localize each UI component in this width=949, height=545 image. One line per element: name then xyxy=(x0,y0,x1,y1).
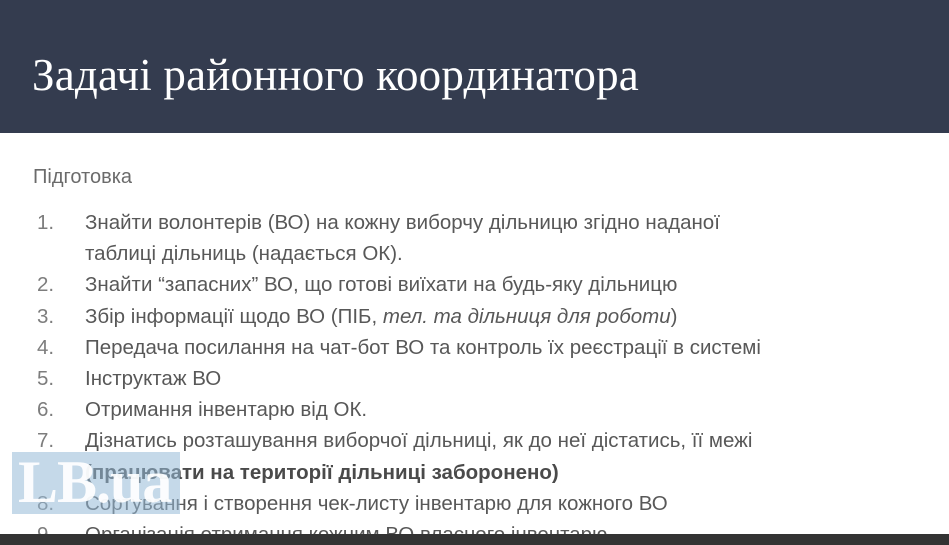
slide-footer-bar xyxy=(0,534,949,545)
task-text-line: Знайти волонтерів (ВО) на кожну виборчу … xyxy=(85,207,923,238)
slide-header-band: Задачі районного координатора xyxy=(0,0,949,133)
section-heading: Підготовка xyxy=(33,165,132,189)
task-text-line: Передача посилання на чат-бот ВО та конт… xyxy=(85,332,923,363)
task-text-run: Знайти “запасних” ВО, що готові виїхати … xyxy=(85,273,677,296)
task-text: Сортування і створення чек-листу інвента… xyxy=(85,488,923,519)
slide-body: Підготовка 1.Знайти волонтерів (ВО) на к… xyxy=(0,133,949,534)
task-list-item: 4.Передача посилання на чат-бот ВО та ко… xyxy=(33,332,923,363)
task-list-item: 1.Знайти волонтерів (ВО) на кожну виборч… xyxy=(33,207,923,269)
task-text-run: Інструктаж ВО xyxy=(85,367,221,390)
task-number: 2. xyxy=(37,269,71,300)
task-text-line: Отримання інвентарю від ОК. xyxy=(85,394,923,425)
task-text-run: Знайти волонтерів (ВО) на кожну виборчу … xyxy=(85,211,720,234)
task-list-item: 5.Інструктаж ВО xyxy=(33,363,923,394)
task-text-run: таблиці дільниць (надається ОК). xyxy=(85,242,403,265)
task-number: 5. xyxy=(37,363,71,394)
task-text: Дізнатись розташування виборчої дільниці… xyxy=(85,425,923,487)
task-list-item: 3.Збір інформації щодо ВО (ПІБ, тел. та … xyxy=(33,301,923,332)
task-text-line: таблиці дільниць (надається ОК). xyxy=(85,238,923,269)
task-number: 6. xyxy=(37,394,71,425)
task-text: Збір інформації щодо ВО (ПІБ, тел. та ді… xyxy=(85,301,923,332)
task-text-line: Сортування і створення чек-листу інвента… xyxy=(85,488,923,519)
task-text: Передача посилання на чат-бот ВО та конт… xyxy=(85,332,923,363)
task-list-item: 2.Знайти “запасних” ВО, що готові виїхат… xyxy=(33,269,923,300)
task-number: 4. xyxy=(37,332,71,363)
task-text-run: Збір інформації щодо ВО (ПІБ, xyxy=(85,305,383,328)
task-list-item: 6.Отримання інвентарю від ОК. xyxy=(33,394,923,425)
task-number: 3. xyxy=(37,301,71,332)
task-text-run: Сортування і створення чек-листу інвента… xyxy=(85,492,668,515)
task-text-line: (працювати на території дільниці заборон… xyxy=(85,457,923,488)
task-list: 1.Знайти волонтерів (ВО) на кожну виборч… xyxy=(33,207,923,545)
task-text-run: (працювати на території дільниці заборон… xyxy=(85,461,559,484)
task-text-run: Дізнатись розташування виборчої дільниці… xyxy=(85,429,752,452)
task-text-run: ) xyxy=(671,305,678,328)
task-number: 8. xyxy=(37,488,71,519)
task-text-line: Інструктаж ВО xyxy=(85,363,923,394)
task-text-line: Дізнатись розташування виборчої дільниці… xyxy=(85,425,923,456)
task-text: Отримання інвентарю від ОК. xyxy=(85,394,923,425)
task-number: 1. xyxy=(37,207,71,238)
presentation-slide: Задачі районного координатора Підготовка… xyxy=(0,0,949,545)
task-text-run: Передача посилання на чат-бот ВО та конт… xyxy=(85,336,761,359)
task-text: Інструктаж ВО xyxy=(85,363,923,394)
task-text-line: Збір інформації щодо ВО (ПІБ, тел. та ді… xyxy=(85,301,923,332)
task-text: Знайти волонтерів (ВО) на кожну виборчу … xyxy=(85,207,923,269)
page-title: Задачі районного координатора xyxy=(32,52,639,99)
task-text: Знайти “запасних” ВО, що готові виїхати … xyxy=(85,269,923,300)
task-list-item: 7.Дізнатись розташування виборчої дільни… xyxy=(33,425,923,487)
task-list-item: 8.Сортування і створення чек-листу інвен… xyxy=(33,488,923,519)
task-text-run: тел. та дільниця для роботи xyxy=(383,305,671,328)
task-text-run: Отримання інвентарю від ОК. xyxy=(85,398,367,421)
task-text-line: Знайти “запасних” ВО, що готові виїхати … xyxy=(85,269,923,300)
task-number: 7. xyxy=(37,425,71,456)
